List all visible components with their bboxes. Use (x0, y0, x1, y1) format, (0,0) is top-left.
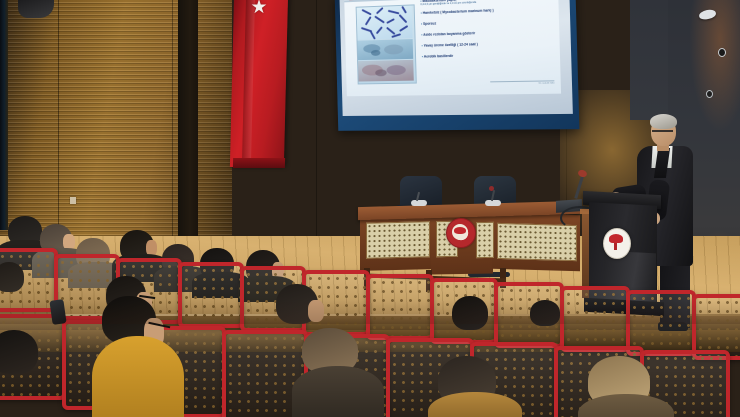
slide-image-tissue (357, 39, 413, 60)
audience-head (0, 330, 38, 374)
wall-seam (316, 0, 317, 236)
audience-shoulders (92, 336, 184, 417)
wall-dark-strip (178, 0, 198, 248)
audience-head (0, 262, 24, 292)
emblem-stem-icon (614, 243, 617, 250)
table-microphone-base (485, 200, 501, 206)
bullet-text: Yavaş üreme özelliği ( 12-24 saat ) (424, 42, 478, 47)
audience-shoulders (292, 366, 384, 417)
bullet-text: Aerobik basillerdir (424, 54, 453, 59)
wall-outlet (70, 197, 76, 204)
star-icon: ★ (249, 0, 269, 18)
bullet-text: Aside rezistan boyanma gösterir (423, 31, 475, 37)
slide-bullet-item: • Sporsuz (421, 19, 555, 27)
microphone-head-icon (489, 186, 494, 191)
spotlight-icon (706, 90, 713, 98)
slide-credit: Dr. sunum notu (492, 82, 554, 85)
bullet-text: Hareketsiz ( Mycobacterium marinum hariç… (423, 9, 494, 16)
glasses-icon (652, 130, 673, 136)
emblem-crescent-icon (454, 227, 466, 234)
turkish-flag (230, 0, 288, 167)
wall-seam (58, 0, 59, 240)
wall-light-glow (690, 0, 740, 130)
flag-hem (233, 158, 285, 168)
conference-hall-photo: ★ (0, 0, 740, 417)
bullet-text: Sporsuz (423, 22, 436, 26)
row-shadow (0, 300, 740, 324)
slide-bullet-item: • Mikobakterium yapısı 0,2-0,6 µm genişl… (420, 0, 554, 7)
table-microphone-base (411, 200, 427, 206)
slide-image-cell (358, 60, 414, 82)
dark-wall-upper-right (630, 0, 672, 120)
slide-bullet-item: • Aerobik basillerdir (422, 52, 556, 59)
slide-bullet-item: • Yavaş üreme özelliği ( 12-24 saat ) (422, 41, 556, 49)
wall-seam (172, 0, 173, 238)
slide-bullet-item: • Aside rezistan boyanma gösterir (421, 30, 555, 38)
spotlight-icon (718, 48, 726, 57)
table-perforated-panel (476, 222, 494, 258)
slide-image-bacilli (357, 5, 413, 39)
wall-edge (0, 0, 8, 230)
emblem-crescent-icon (609, 234, 623, 243)
slide-bullet-item: • Hareketsiz ( Mycobacterium marinum har… (421, 7, 555, 16)
speaker-hair (650, 114, 677, 129)
table-perforated-panel (497, 223, 577, 261)
table-perforated-panel (366, 221, 430, 259)
presentation-slide: • Mikobakterium yapısı 0,2-0,6 µm genişl… (344, 0, 561, 96)
slide-bullet-list: • Mikobakterium yapısı 0,2-0,6 µm genişl… (420, 0, 556, 85)
ministry-emblem-podium (603, 228, 631, 259)
